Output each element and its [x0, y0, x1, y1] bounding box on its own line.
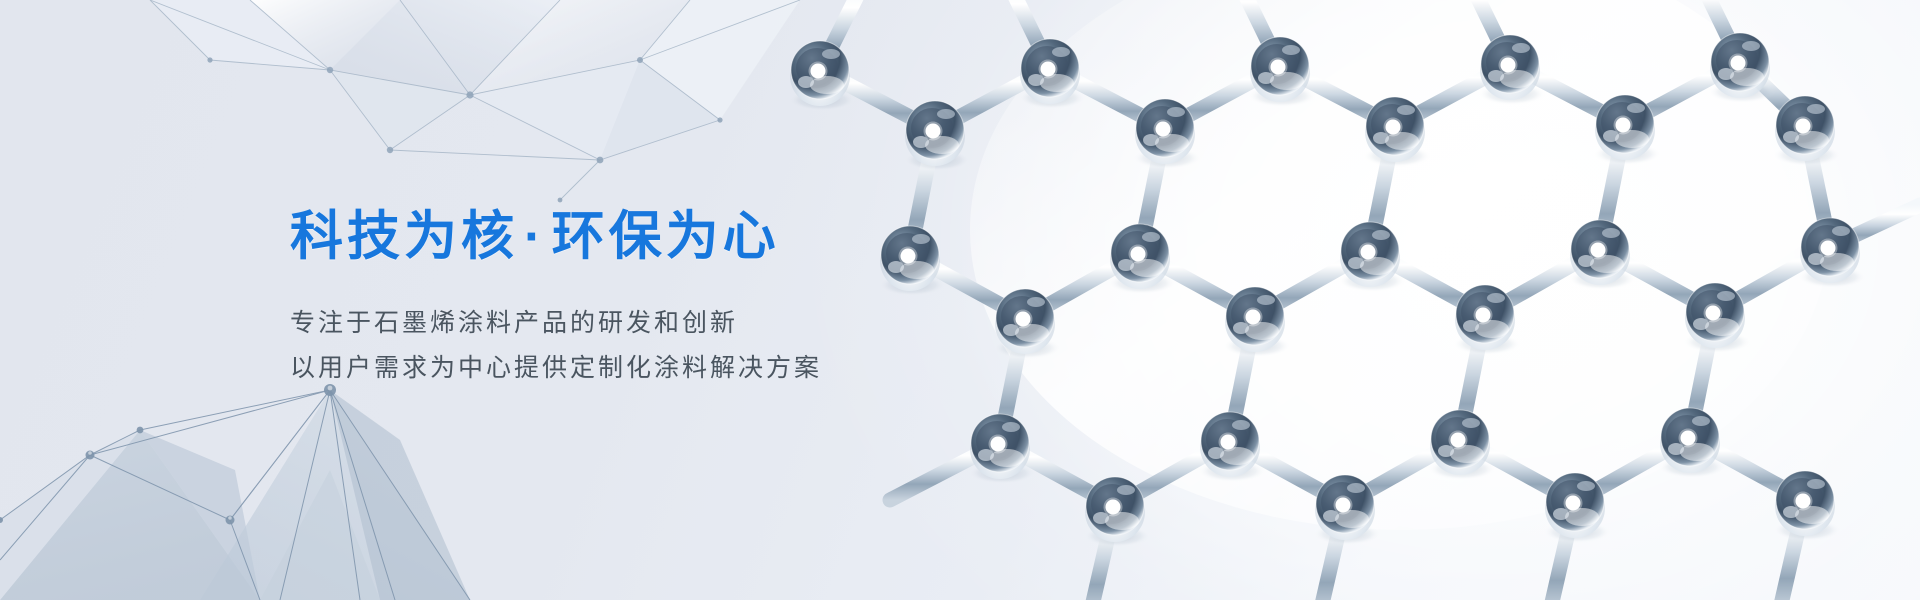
banner-headline: 科技为核·环保为心 [290, 208, 822, 266]
headline-part-2: 环保为心 [552, 207, 780, 266]
banner-copy: 科技为核·环保为心 专注于石墨烯涂料产品的研发和创新 以用户需求为中心提供定制化… [290, 0, 822, 600]
decorative-polygon-layer [0, 0, 1920, 600]
headline-separator-dot: · [518, 207, 552, 266]
hero-banner: 科技为核·环保为心 专注于石墨烯涂料产品的研发和创新 以用户需求为中心提供定制化… [0, 0, 1920, 600]
banner-subtitle-line-1: 专注于石墨烯涂料产品的研发和创新 [290, 301, 822, 347]
lattice-nodes [788, 33, 1866, 547]
lattice-rods [820, 0, 1920, 600]
graphene-lattice-graphic [760, 0, 1920, 600]
headline-part-1: 科技为核 [290, 207, 518, 266]
banner-subtitle-line-2: 以用户需求为中心提供定制化涂料解决方案 [290, 346, 822, 392]
